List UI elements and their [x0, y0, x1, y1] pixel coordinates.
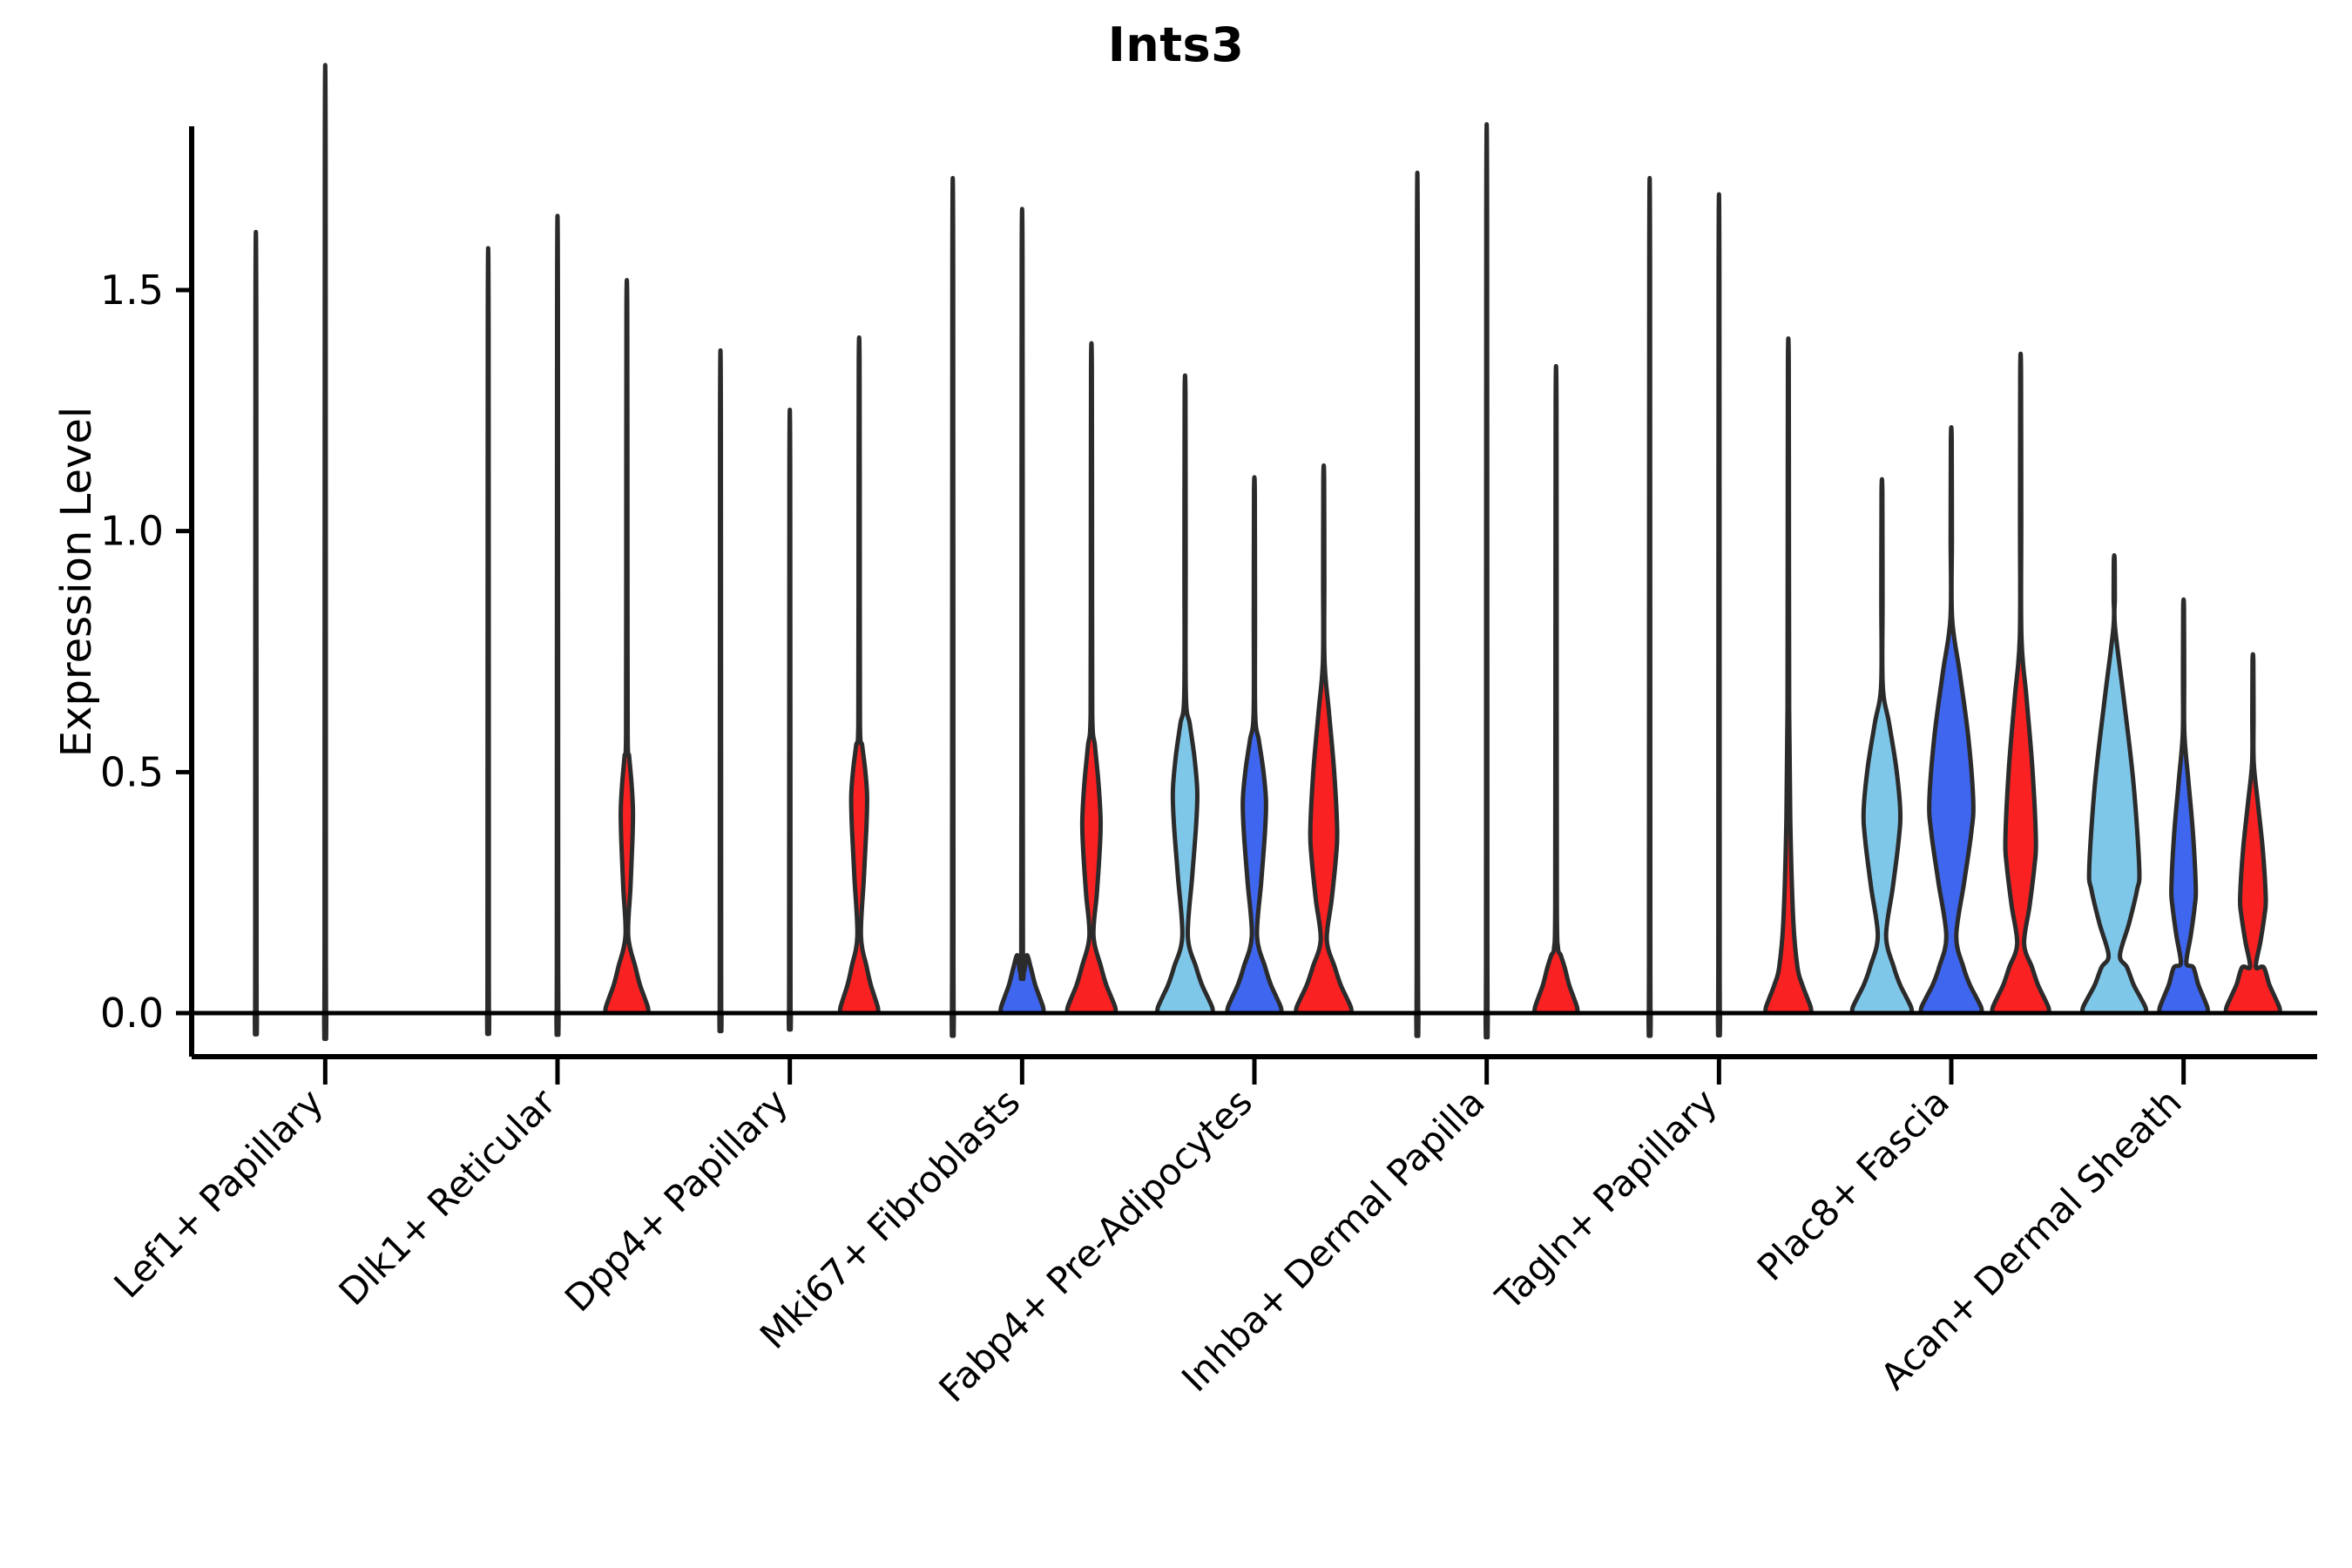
y-tick-label: 0.0 [100, 990, 164, 1037]
violin-group-3 [1067, 343, 1116, 1013]
violin-group-1 [1648, 179, 1651, 1037]
violin-group-1 [951, 179, 954, 1037]
violin-group-2 [1227, 477, 1281, 1013]
violin-group-3 [1992, 354, 2049, 1013]
x-tick-label: Lef1+ Papillary [105, 1080, 331, 1306]
violin-group-3 [840, 337, 878, 1013]
y-tick-labels: 0.00.51.01.5 [100, 267, 164, 1037]
violin-group-2 [324, 65, 327, 1039]
x-tick-label: Plac8+ Fascia [1749, 1080, 1957, 1288]
violin-group-3 [605, 280, 648, 1013]
violin-group-2 [1718, 194, 1720, 1035]
violin-group-3 [1535, 366, 1578, 1013]
y-tick-label: 1.5 [100, 267, 164, 314]
violin-group-3 [1766, 339, 1812, 1013]
y-tick-label: 1.0 [100, 508, 164, 555]
violins-layer [254, 65, 2280, 1039]
violin-group-2 [1921, 427, 1982, 1013]
violin-group-3 [2226, 654, 2280, 1013]
violin-group-2 [788, 409, 791, 1029]
axes-layer [176, 126, 2317, 1085]
x-tick-label: Dlk1+ Reticular [331, 1080, 564, 1314]
violin-group-1 [2082, 556, 2146, 1013]
violin-group-3 [1296, 465, 1352, 1013]
x-tick-label: Mki67+ Fibroblasts [752, 1080, 1028, 1356]
chart-canvas: 0.00.51.01.5 Lef1+ PapillaryDlk1+ Reticu… [0, 0, 2352, 1568]
x-tick-label: Tagln+ Papillary [1487, 1080, 1725, 1318]
violin-group-2 [2159, 599, 2208, 1013]
violin-group-1 [254, 232, 257, 1034]
violin-group-2 [1001, 209, 1044, 1013]
x-tick-label: Dpp4+ Papillary [557, 1080, 796, 1320]
violin-plot-figure: Ints3 Expression Level 0.00.51.01.5 Lef1… [0, 0, 2352, 1568]
violin-group-2 [557, 216, 559, 1035]
y-tick-label: 0.5 [100, 748, 164, 795]
violin-group-1 [1416, 172, 1419, 1036]
violin-group-1 [487, 248, 490, 1034]
violin-group-2 [1485, 125, 1488, 1037]
violin-group-1 [720, 350, 722, 1031]
x-tick-labels: Lef1+ PapillaryDlk1+ ReticularDpp4+ Papi… [105, 1080, 2189, 1410]
violin-group-1 [1158, 375, 1213, 1013]
violin-group-1 [1852, 479, 1912, 1013]
